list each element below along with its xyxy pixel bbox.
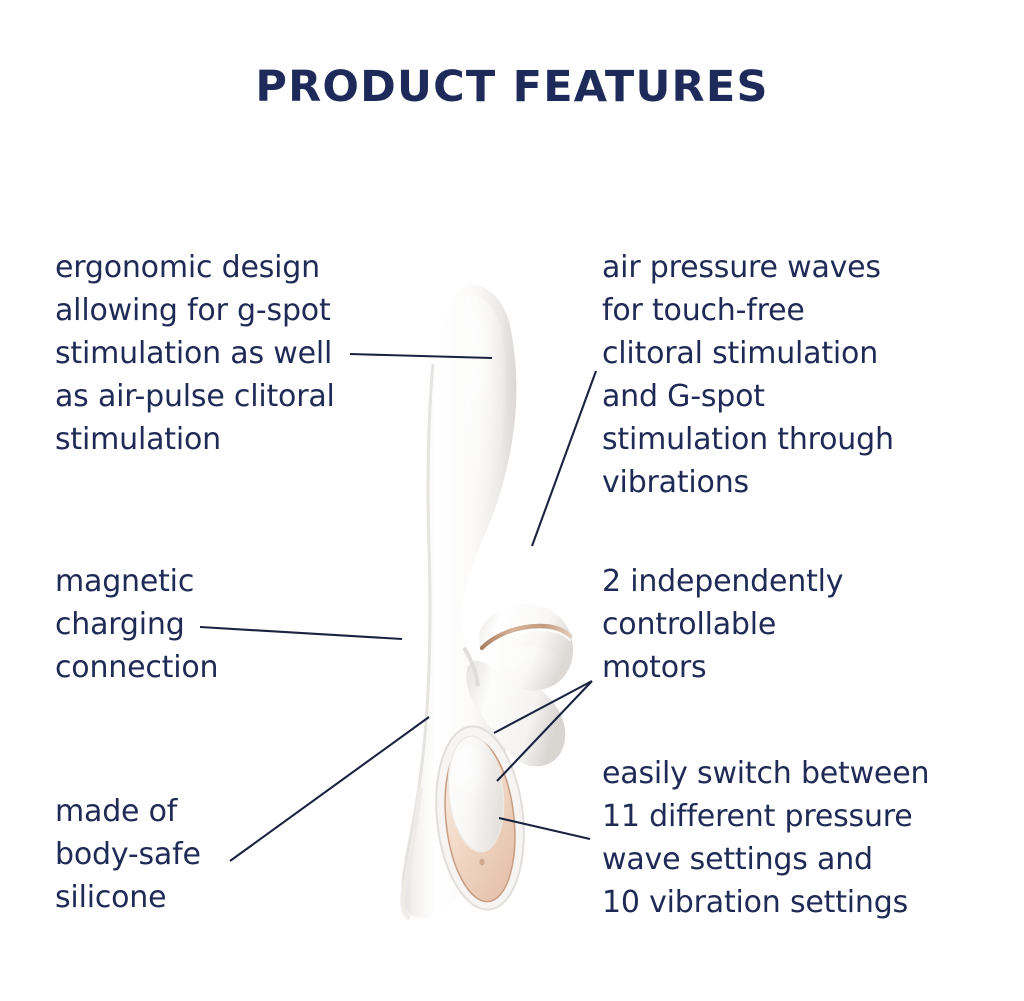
callout-independent-motors: 2 independently controllable motors xyxy=(602,560,843,689)
callout-line: wave settings and xyxy=(602,838,929,881)
callout-pressure-wave-settings: easily switch between 11 different press… xyxy=(602,752,929,924)
callout-line: allowing for g-spot xyxy=(55,289,335,332)
product-tip-highlight xyxy=(463,294,506,544)
callout-line: 11 different pressure xyxy=(602,795,929,838)
page-title: PRODUCT FEATURES xyxy=(0,66,1024,109)
callout-line: 10 vibration settings xyxy=(602,881,929,924)
callout-line: magnetic xyxy=(55,560,218,603)
callout-magnetic-charging: magnetic charging connection xyxy=(55,560,218,689)
callout-air-pressure-waves: air pressure waves for touch-free clitor… xyxy=(602,246,894,504)
head-gloss xyxy=(486,646,562,686)
callout-line: connection xyxy=(55,646,218,689)
callout-line: body-safe xyxy=(55,833,201,876)
callout-line: and G-spot xyxy=(602,375,894,418)
callout-line: stimulation through xyxy=(602,418,894,461)
callout-line: silicone xyxy=(55,876,201,919)
callout-line: made of xyxy=(55,790,201,833)
callout-line: ergonomic design xyxy=(55,246,335,289)
callout-line: as air-pulse clitoral xyxy=(55,375,335,418)
callout-line: charging xyxy=(55,603,218,646)
callout-line: stimulation xyxy=(55,418,335,461)
callout-line: 2 independently xyxy=(602,560,843,603)
callout-line: vibrations xyxy=(602,461,894,504)
callout-ergonomic-design: ergonomic design allowing for g-spot sti… xyxy=(55,246,335,461)
callout-body-safe-silicone: made of body-safe silicone xyxy=(55,790,201,919)
led-indicator xyxy=(479,859,484,866)
callout-line: motors xyxy=(602,646,843,689)
callout-line: for touch-free xyxy=(602,289,894,332)
callout-line: clitoral stimulation xyxy=(602,332,894,375)
callout-line: controllable xyxy=(602,603,843,646)
callout-line: easily switch between xyxy=(602,752,929,795)
callout-line: air pressure waves xyxy=(602,246,894,289)
callout-line: stimulation as well xyxy=(55,332,335,375)
product-illustration xyxy=(372,268,602,958)
infographic-canvas: PRODUCT FEATURES xyxy=(0,0,1024,1001)
